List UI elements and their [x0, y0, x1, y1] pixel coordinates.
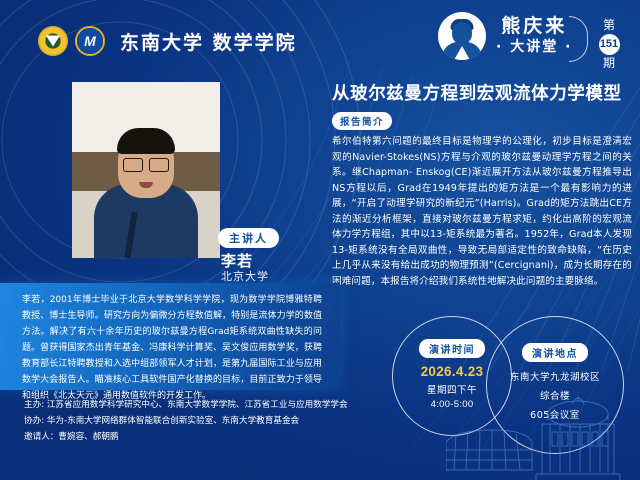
lecture-abstract: 希尔伯特第六问题的最终目标是物理学的公理化，初步目标是澄清宏观的Navier-S… [332, 134, 632, 289]
place-line-1: 东南大学九龙湖校区 [510, 369, 600, 383]
footer-hosts: 主办: 江苏省应用数学科学研究中心、东南大学数学学院、江苏省工业与应用数学学会 [24, 398, 364, 414]
speaker-badge: 主讲人 [218, 228, 279, 248]
issue-number-block: 第 151 期 [592, 18, 626, 71]
brand-text: 熊庆来 · 大讲堂 · [490, 14, 586, 58]
speaker-figure [94, 138, 198, 258]
brand-title: 熊庆来 [501, 16, 567, 38]
speaker-organization: 北京大学 [221, 268, 269, 284]
abstract-badge: 报告简介 [332, 112, 392, 130]
speaker-bio: 李若，2001年博士毕业于北京大学数学科学学院，现为数学学院博雅特聘教授、博士生… [22, 292, 322, 404]
place-line-3: 605会议室 [530, 407, 580, 421]
lecture-hours: 4:00-5:00 [431, 399, 474, 410]
lecture-series-brand: 熊庆来 · 大讲堂 · [438, 12, 586, 60]
institution-logos: 东南大学 数学学院 [38, 26, 297, 56]
place-line-2: 综合楼 [540, 388, 570, 402]
footer-inviters: 邀请人：曹婉容、郝朝鹏 [24, 430, 364, 446]
speaker-bio-band: 李若，2001年博士毕业于北京大学数学科学学院，现为数学学院博雅特聘教授、博士生… [0, 283, 340, 390]
lecture-weekday: 星期四下午 [427, 382, 477, 396]
brand-subtitle: · 大讲堂 · [496, 38, 572, 56]
issue-number: 151 [599, 34, 620, 55]
lecture-date: 2026.4.23 [421, 364, 484, 379]
place-badge: 演讲地点 [522, 343, 588, 362]
xiong-qinglai-portrait-icon [438, 12, 486, 60]
lecture-place-circle: 演讲地点 东南大学九龙湖校区 综合楼 605会议室 [486, 316, 624, 454]
footer-cohosts: 协办: 华为-东南大学网络群体智能联合创新实验室、东南大学教育基金会 [24, 414, 364, 430]
issue-suffix: 期 [592, 56, 626, 71]
lecture-title: 从玻尔兹曼方程到宏观流体力学模型 [332, 84, 632, 105]
school-name: 东南大学 数学学院 [120, 28, 297, 55]
speaker-photo [72, 82, 220, 258]
time-badge: 演讲时间 [419, 339, 485, 358]
issue-prefix: 第 [592, 18, 626, 33]
seu-university-seal-icon [38, 26, 68, 56]
poster-footer: 主办: 江苏省应用数学科学研究中心、东南大学数学学院、江苏省工业与应用数学学会 … [24, 398, 364, 446]
seu-math-school-seal-icon [75, 26, 105, 56]
glasses-icon [123, 158, 169, 170]
lecture-poster: 东南大学 数学学院 熊庆来 · 大讲堂 · 第 151 期 主讲人 [0, 0, 640, 480]
